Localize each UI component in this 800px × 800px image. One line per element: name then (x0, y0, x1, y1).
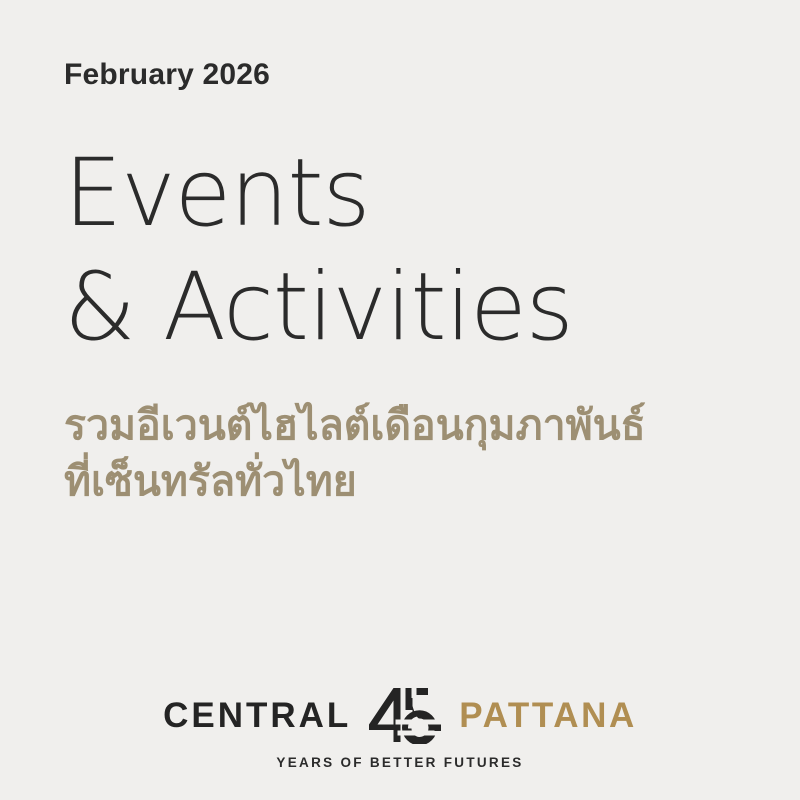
anniversary-45-icon (367, 686, 441, 744)
subtitle-line-2: ที่เซ็นทรัลทั่วไทย (64, 453, 764, 509)
poster-eyebrow-date: February 2026 (64, 58, 764, 91)
poster-text-block: February 2026 Events & Activities รวมอีเ… (64, 58, 764, 509)
headline-line-2: & Activities (64, 249, 764, 365)
logo-wordmark-pattana: PATTANA (459, 698, 637, 733)
logo-wordmark-central: CENTRAL (163, 698, 351, 733)
page-title: Events & Activities (64, 135, 764, 363)
brand-logo-lockup: CENTRAL PATTANA (0, 686, 800, 770)
headline-line-1: Events (64, 135, 764, 251)
promo-poster: February 2026 Events & Activities รวมอีเ… (0, 0, 800, 800)
logo-tagline: YEARS OF BETTER FUTURES (276, 755, 523, 770)
subtitle-line-1: รวมอีเวนต์ไฮไลต์เดือนกุมภาพันธ์ (64, 397, 764, 453)
poster-subtitle: รวมอีเวนต์ไฮไลต์เดือนกุมภาพันธ์ ที่เซ็นท… (64, 397, 764, 509)
logo-row: CENTRAL PATTANA (163, 686, 637, 744)
